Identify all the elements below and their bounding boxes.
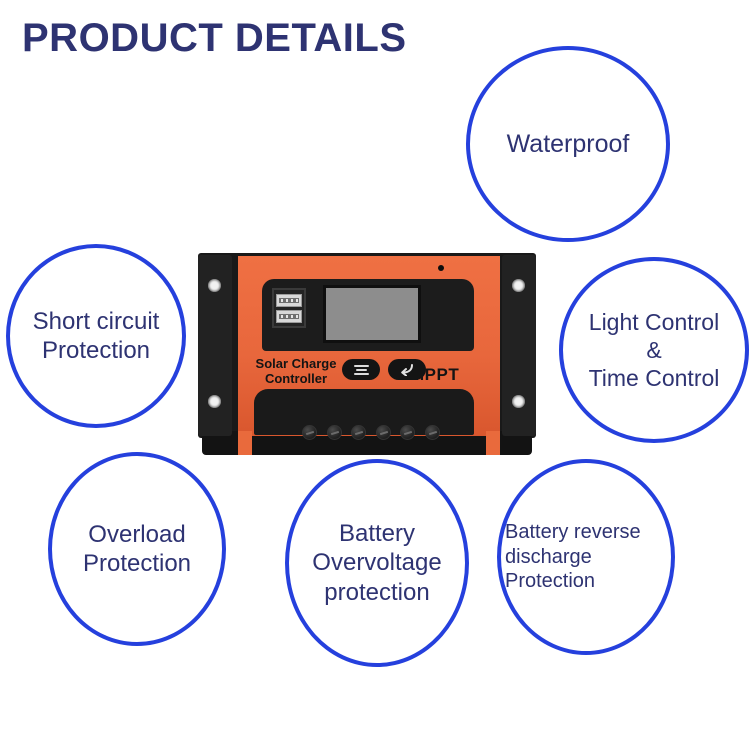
faceplate-lip-left	[238, 431, 252, 455]
terminal-screw-icon[interactable]	[376, 425, 391, 440]
terminal-screw-icon[interactable]	[327, 425, 342, 440]
mount-bracket-left	[198, 255, 232, 436]
feature-label-short-circuit: Short circuit Protection	[10, 307, 182, 366]
feature-circle-short-circuit: Short circuit Protection	[6, 244, 186, 428]
feature-label-battery-reverse: Battery reverse discharge Protection	[501, 520, 671, 593]
faceplate-lip-right	[486, 431, 500, 455]
feature-circle-overload: Overload Protection	[48, 452, 226, 646]
back-arrow-icon	[399, 363, 415, 376]
device-brand-text: Solar Charge Controller	[250, 357, 342, 387]
usb-port-block[interactable]	[272, 288, 306, 328]
page-title: PRODUCT DETAILS	[22, 16, 407, 61]
indicator-led-icon	[438, 265, 444, 271]
back-button[interactable]	[388, 359, 426, 380]
mount-hole-icon	[208, 279, 221, 292]
product-details-page: PRODUCT DETAILS Waterproof Short circuit…	[0, 0, 750, 750]
menu-lines-icon	[354, 365, 369, 375]
mount-hole-icon	[208, 395, 221, 408]
mount-bracket-right	[502, 255, 536, 436]
lcd-display	[323, 285, 421, 343]
feature-label-overload: Overload Protection	[83, 520, 191, 579]
feature-circle-battery-overvoltage: Battery Overvoltage protection	[285, 459, 469, 667]
feature-circle-light-control: Light Control & Time Control	[559, 257, 749, 443]
usb-port-icon[interactable]	[276, 310, 302, 323]
feature-label-light-control: Light Control & Time Control	[563, 308, 745, 392]
menu-button[interactable]	[342, 359, 380, 380]
terminal-screw-icon[interactable]	[400, 425, 415, 440]
feature-label-waterproof: Waterproof	[507, 129, 630, 160]
usb-port-icon[interactable]	[276, 294, 302, 307]
terminal-screw-icon[interactable]	[302, 425, 317, 440]
terminal-screw-icon[interactable]	[425, 425, 440, 440]
feature-circle-waterproof: Waterproof	[466, 46, 670, 242]
terminal-screw-icon[interactable]	[351, 425, 366, 440]
feature-label-battery-overvoltage: Battery Overvoltage protection	[289, 519, 465, 607]
feature-circle-battery-reverse: Battery reverse discharge Protection	[497, 459, 675, 655]
solar-charge-controller-device: Solar Charge Controller MPPT	[198, 253, 536, 455]
terminal-screw-row	[302, 425, 440, 440]
mount-hole-icon	[512, 279, 525, 292]
mount-hole-icon	[512, 395, 525, 408]
